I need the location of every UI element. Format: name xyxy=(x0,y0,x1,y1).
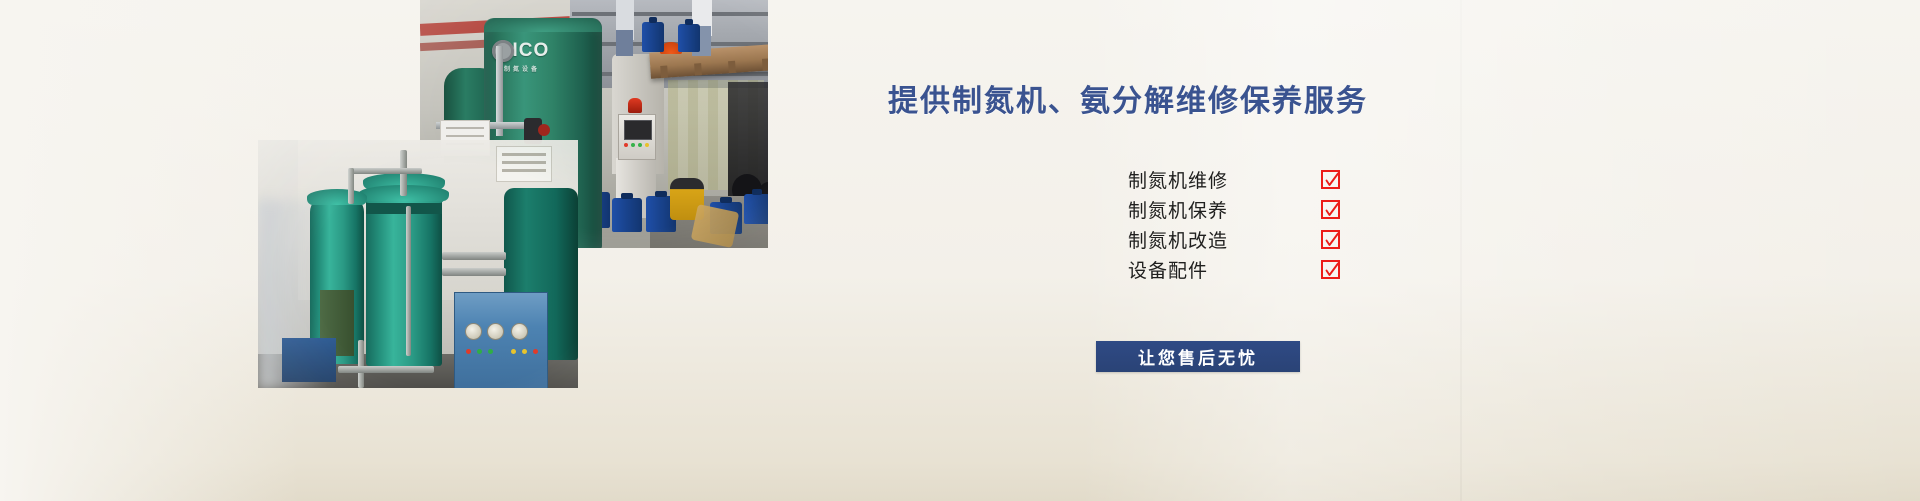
tie-rod xyxy=(406,206,411,356)
cta-button-label: 让您售后无忧 xyxy=(1138,344,1258,369)
service-label: 制氮机保养 xyxy=(1128,202,1228,221)
control-panel-leds xyxy=(624,143,649,147)
cross-pipe xyxy=(350,168,422,174)
promo-banner: HCO 制氮设备 xyxy=(0,0,1920,501)
service-label: 制氮机改造 xyxy=(1128,232,1228,251)
service-list: 制氮机维修 制氮机保养 制氮机改造 设备 xyxy=(1128,166,1368,286)
checkbox-checked-icon[interactable] xyxy=(1321,170,1340,189)
tank-brand-subtext: 制氮设备 xyxy=(504,64,549,73)
indicator-led xyxy=(533,349,538,354)
page-title: 提供制氮机、氨分解维修保养服务 xyxy=(888,76,1368,120)
worker-legs xyxy=(616,30,633,56)
blue-drum xyxy=(678,24,700,52)
warning-beacon xyxy=(628,98,642,113)
checkbox-checked-icon[interactable] xyxy=(1321,230,1340,249)
pressure-gauge xyxy=(511,323,528,340)
equipment-sign xyxy=(496,146,552,182)
cta-button[interactable]: 让您售后无忧 xyxy=(1096,341,1300,372)
service-item[interactable]: 制氮机维修 xyxy=(1128,166,1368,196)
control-panel xyxy=(618,114,656,160)
control-panel-screen xyxy=(624,120,652,140)
checkbox-checked-icon[interactable] xyxy=(1321,260,1340,279)
interconnect-pipe xyxy=(442,252,506,260)
blue-drum xyxy=(744,194,768,224)
indicator-led xyxy=(488,349,493,354)
pressure-gauge xyxy=(465,323,482,340)
manifold-pipe xyxy=(338,366,434,373)
service-label: 制氮机维修 xyxy=(1128,172,1228,191)
indicator-led xyxy=(466,349,471,354)
blue-drum xyxy=(612,198,642,232)
indicator-led xyxy=(511,349,516,354)
indicator-led xyxy=(522,349,527,354)
cross-pipe-drop xyxy=(348,168,354,204)
blue-equipment-box xyxy=(282,338,336,382)
service-label: 设备配件 xyxy=(1128,262,1208,281)
indicator-led xyxy=(477,349,482,354)
blue-drum xyxy=(642,22,664,52)
racking-bar xyxy=(572,12,768,16)
service-item[interactable]: 制氮机保养 xyxy=(1128,196,1368,226)
pressure-gauge xyxy=(487,323,504,340)
control-cabinet xyxy=(454,292,548,388)
service-item[interactable]: 制氮机改造 xyxy=(1128,226,1368,256)
drain-pipe xyxy=(358,340,364,388)
service-item[interactable]: 设备配件 xyxy=(1128,256,1368,286)
interconnect-pipe xyxy=(442,268,506,276)
photo-nitrogen-plant-bottom xyxy=(258,140,578,388)
checkbox-checked-icon[interactable] xyxy=(1321,200,1340,219)
